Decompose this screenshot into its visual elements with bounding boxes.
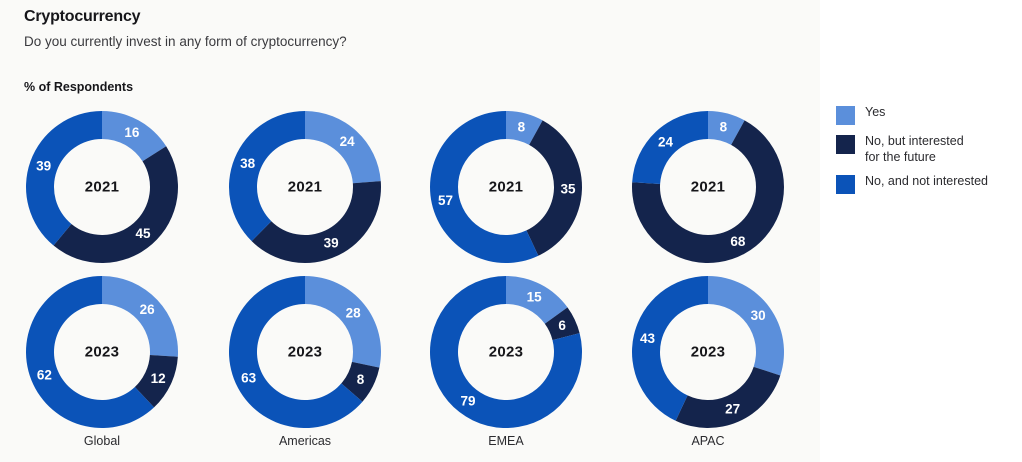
segment-value-label: 24 <box>340 134 356 149</box>
value-axis-label: % of Respondents <box>24 80 133 94</box>
legend-swatch-icon <box>836 135 855 154</box>
segment-value-label: 6 <box>558 318 566 333</box>
page-title: Cryptocurrency <box>24 8 140 26</box>
legend-swatch-icon <box>836 175 855 194</box>
donut-segment <box>54 146 178 263</box>
legend-label: No, but interested for the future <box>865 134 964 165</box>
donut-center-year: 2021 <box>489 179 524 196</box>
donut-segment <box>676 367 781 428</box>
region-label-global: Global <box>2 434 202 448</box>
segment-value-label: 62 <box>37 367 52 382</box>
segment-value-label: 16 <box>124 125 140 140</box>
segment-value-label: 45 <box>135 226 151 241</box>
donut-chart-global-2021: 1645392021 <box>22 107 182 267</box>
legend-swatch-icon <box>836 106 855 125</box>
donut-center-year: 2023 <box>489 344 524 361</box>
segment-value-label: 57 <box>438 193 453 208</box>
donut-center-year: 2023 <box>288 344 323 361</box>
donut-center-year: 2021 <box>85 179 120 196</box>
region-label-emea: EMEA <box>406 434 606 448</box>
donut-segment <box>708 276 784 375</box>
segment-value-label: 38 <box>240 156 256 171</box>
segment-value-label: 15 <box>527 289 543 304</box>
donut-center-year: 2023 <box>85 344 120 361</box>
legend-item-1[interactable]: No, but interested for the future <box>836 134 1022 165</box>
donut-center-year: 2023 <box>691 344 726 361</box>
donut-chart-emea-2021: 835572021 <box>426 107 586 267</box>
donut-center-year: 2021 <box>288 179 323 196</box>
donut-chart-emea-2023: 156792023 <box>426 272 586 432</box>
legend-label: Yes <box>865 105 885 121</box>
donut-chart-apac-2023: 3027432023 <box>628 272 788 432</box>
donut-chart-americas-2023: 288632023 <box>225 272 385 432</box>
donut-chart-global-2023: 2612622023 <box>22 272 182 432</box>
segment-value-label: 35 <box>560 181 576 196</box>
segment-value-label: 43 <box>640 331 656 346</box>
chart-legend: YesNo, but interested for the futureNo, … <box>836 105 1022 203</box>
legend-item-2[interactable]: No, and not interested <box>836 174 1022 194</box>
segment-value-label: 8 <box>518 119 526 134</box>
donut-center-year: 2021 <box>691 179 726 196</box>
donut-segment <box>229 111 305 241</box>
segment-value-label: 28 <box>346 305 362 320</box>
region-label-americas: Americas <box>205 434 405 448</box>
segment-value-label: 8 <box>720 119 728 134</box>
segment-value-label: 30 <box>751 308 766 323</box>
segment-value-label: 24 <box>658 134 674 149</box>
segment-value-label: 79 <box>460 393 475 408</box>
legend-item-0[interactable]: Yes <box>836 105 1022 125</box>
donut-chart-americas-2021: 2439382021 <box>225 107 385 267</box>
segment-value-label: 12 <box>151 371 166 386</box>
segment-value-label: 8 <box>357 372 365 387</box>
segment-value-label: 39 <box>36 158 51 173</box>
page-subtitle: Do you currently invest in any form of c… <box>24 34 347 49</box>
region-label-apac: APAC <box>608 434 808 448</box>
donut-chart-apac-2021: 868242021 <box>628 107 788 267</box>
segment-value-label: 63 <box>241 370 257 385</box>
segment-value-label: 68 <box>730 234 746 249</box>
segment-value-label: 39 <box>324 236 339 251</box>
segment-value-label: 26 <box>140 302 156 317</box>
segment-value-label: 27 <box>725 401 740 416</box>
legend-label: No, and not interested <box>865 174 988 190</box>
cryptocurrency-chart-page: Cryptocurrency Do you currently invest i… <box>0 0 1022 462</box>
